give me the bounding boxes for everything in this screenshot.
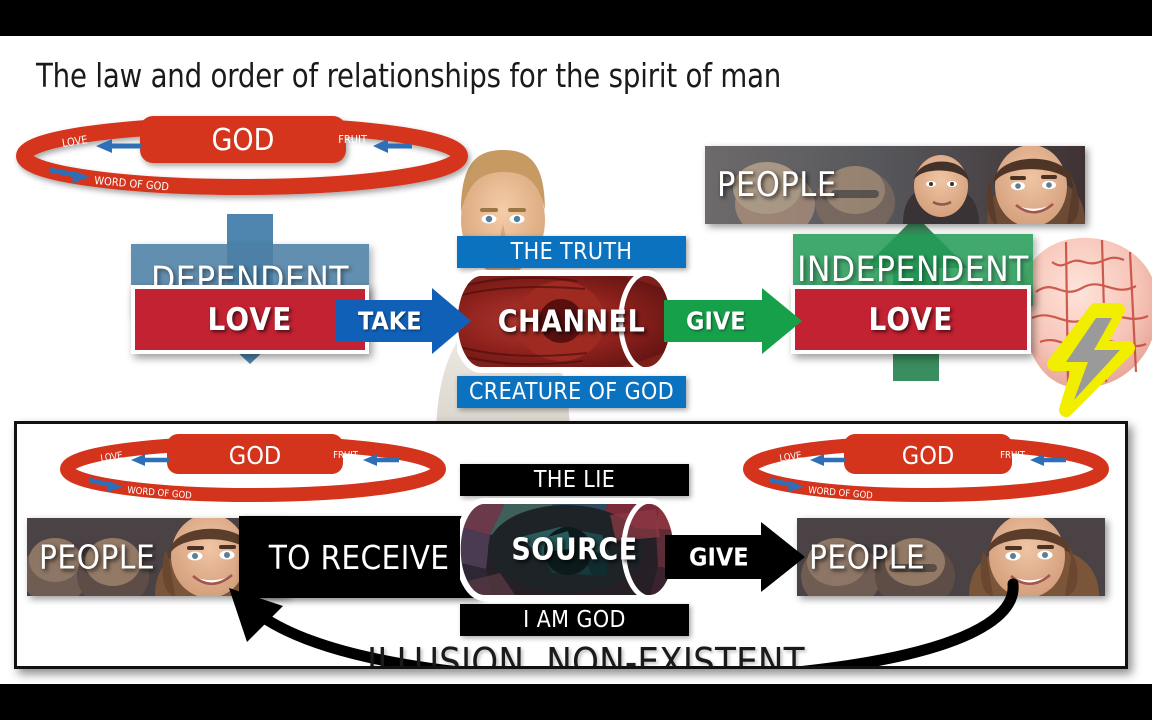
letterbox-bar-top	[0, 0, 1152, 36]
source-stack: THE LIE	[460, 464, 689, 636]
lie-panel: GOD LOVE FRUIT WORD OF GOD	[14, 421, 1128, 669]
give-arrow-lie: GIVE	[665, 522, 805, 592]
god-label: GOD	[229, 441, 281, 470]
to-receive-band: TO RECEIVE	[239, 516, 479, 598]
to-receive-label: TO RECEIVE	[269, 538, 450, 577]
people-label-lie-left: PEOPLE	[39, 538, 155, 577]
source-top-cap-label: THE LIE	[534, 467, 615, 493]
orbit-label-love: LOVE	[100, 450, 124, 464]
people-label-lie-right: PEOPLE	[809, 538, 925, 577]
channel-bottom-cap: CREATURE OF GOD	[457, 376, 686, 408]
independent-label: INDEPENDENT	[797, 250, 1029, 290]
orbit-label-love: LOVE	[779, 450, 803, 464]
lightning-bolt-icon	[1036, 308, 1146, 412]
channel-label: CHANNEL	[457, 304, 686, 339]
channel-top-cap: THE TRUTH	[457, 236, 686, 268]
page-title: The law and order of relationships for t…	[36, 56, 781, 95]
source-bottom-cap-label: I AM GOD	[523, 607, 626, 633]
orbit-label-love: LOVE	[61, 133, 88, 150]
channel-bottom-cap-label: CREATURE OF GOD	[469, 379, 674, 405]
give-label-lie: GIVE	[689, 543, 749, 572]
letterbox-bar-bottom	[0, 684, 1152, 720]
arrow-left-icon	[96, 139, 142, 153]
arrow-left-icon	[131, 454, 169, 466]
god-label: GOD	[902, 441, 954, 470]
god-orbit-top-left: GOD LOVE FRUIT WORD OF GOD	[14, 110, 484, 192]
source-bottom-cap: I AM GOD	[460, 604, 689, 636]
slide-root: The law and order of relationships for t…	[0, 0, 1152, 720]
source-top-cap: THE LIE	[460, 464, 689, 496]
source-cylinder: SOURCE	[460, 497, 689, 602]
give-label-truth: GIVE	[686, 307, 746, 336]
give-arrow-truth: GIVE	[664, 288, 802, 354]
orbit-label-fruit: FRUIT	[338, 133, 368, 146]
orbit-label-fruit: FRUIT	[1000, 450, 1026, 461]
god-orbit-lie-right: GOD LOVE FRUIT WORD OF GOD	[742, 430, 1120, 500]
love-box-left: LOVE	[131, 285, 369, 354]
god-label: GOD	[212, 123, 275, 158]
channel-stack: THE TRUTH	[457, 236, 686, 408]
illusion-label: ILLUSION, NON-EXISTENT	[367, 640, 805, 669]
people-photo-top-right: PEOPLE	[705, 146, 1085, 224]
orbit-label-fruit: FRUIT	[333, 450, 359, 461]
people-label-top-right: PEOPLE	[717, 165, 837, 205]
love-label-right: LOVE	[869, 302, 954, 338]
take-label: TAKE	[358, 307, 422, 336]
channel-top-cap-label: THE TRUTH	[511, 239, 633, 265]
love-box-right: LOVE	[791, 285, 1031, 354]
god-orbit-lie-left: GOD LOVE FRUIT WORD OF GOD	[59, 430, 459, 500]
love-label-left: LOVE	[208, 302, 293, 338]
source-label: SOURCE	[460, 532, 689, 567]
channel-cylinder: CHANNEL	[457, 269, 686, 374]
slide-canvas: The law and order of relationships for t…	[0, 36, 1152, 684]
take-arrow: TAKE	[336, 288, 471, 354]
